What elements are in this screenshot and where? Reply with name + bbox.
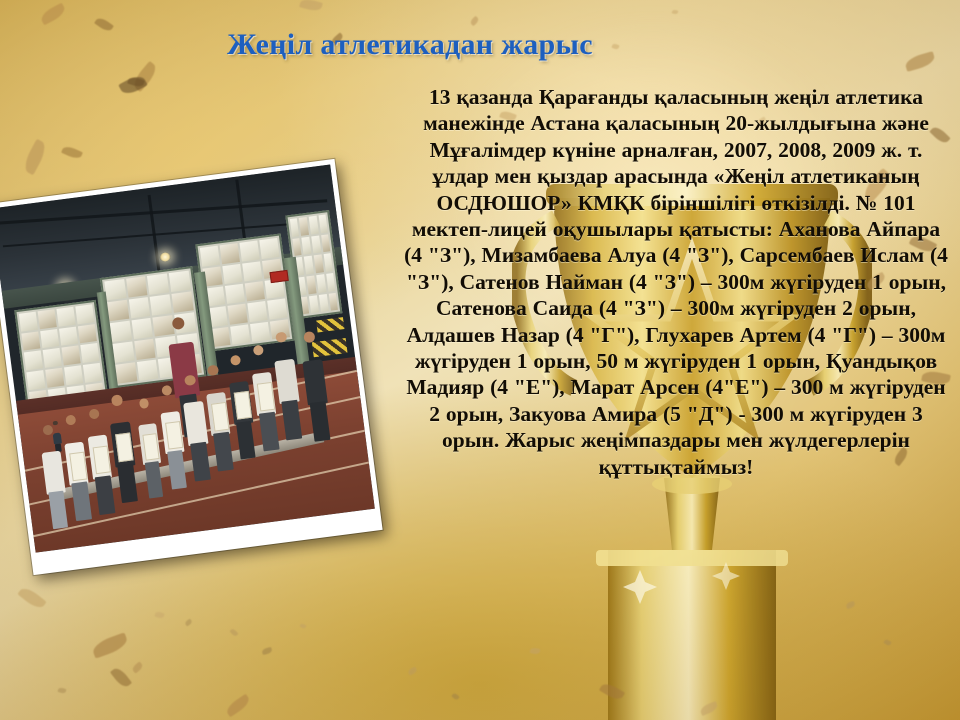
window-pane (83, 363, 102, 383)
window-pane (147, 274, 169, 295)
window-pane (304, 256, 314, 274)
window-pane (307, 275, 317, 293)
child-shirt (274, 359, 299, 404)
child-legs (236, 420, 256, 459)
child-legs (71, 482, 91, 522)
window-pane (314, 255, 324, 273)
window-pane (228, 304, 248, 324)
window-pane (110, 321, 132, 342)
child-legs (282, 400, 303, 441)
child-legs (117, 463, 138, 504)
window-pane (45, 368, 64, 388)
child-head (139, 398, 150, 409)
window-pane (245, 281, 265, 301)
child-head (42, 425, 53, 436)
window-pane (24, 351, 43, 371)
window-pane (259, 238, 279, 258)
event-photo (0, 159, 383, 575)
child-legs (95, 475, 115, 515)
window-pane (290, 218, 300, 236)
photo-image (0, 164, 375, 552)
window-pane (323, 253, 333, 271)
window-pane (169, 271, 191, 292)
slide-body-text: 13 қазанда Қарағанды қаласының жеңіл атл… (404, 84, 948, 480)
child-head (65, 414, 76, 425)
child-legs (259, 412, 279, 452)
window-pane (171, 292, 193, 313)
window-pane (78, 324, 97, 344)
child-head (111, 395, 123, 407)
window-pane (311, 235, 321, 253)
child-legs (167, 450, 187, 489)
child-legs (144, 461, 163, 499)
window-pane (220, 244, 240, 264)
window-pane (19, 312, 38, 332)
window-pane (59, 326, 78, 346)
window-pane (129, 297, 151, 318)
child-head (184, 375, 195, 386)
window-pane (43, 348, 62, 368)
window-pane (200, 246, 220, 266)
window-pane (309, 216, 319, 234)
window-pane (250, 322, 270, 342)
window-pane (62, 346, 81, 366)
child-head (161, 385, 172, 396)
window-pane (292, 238, 302, 256)
slide-root: Жеңіл атлетикадан жарыс 13 қазанда Қарағ… (0, 0, 960, 720)
window-pane (115, 363, 137, 384)
window-pane (38, 309, 57, 329)
window-pane (126, 276, 148, 297)
child-legs (48, 490, 68, 529)
window-pane (64, 365, 83, 385)
child-head (253, 345, 264, 356)
window-pane (134, 339, 156, 360)
child-legs (213, 432, 233, 472)
window-pane (319, 294, 329, 312)
window-pane (81, 343, 100, 363)
window-pane (57, 307, 76, 327)
window-pane (27, 370, 46, 390)
child-head (275, 331, 287, 343)
child-shirt (42, 451, 66, 495)
window-pane (309, 295, 319, 313)
window-pane (230, 324, 250, 344)
hurdle-equipment (316, 317, 345, 333)
window-pane (267, 299, 287, 319)
window-pane (316, 274, 326, 292)
coach-head (172, 317, 185, 330)
window-pane (302, 237, 312, 255)
window-pane (40, 329, 59, 349)
child-head (89, 408, 100, 419)
child-head (303, 331, 315, 343)
child-shirt (183, 401, 207, 446)
window-pane (105, 279, 127, 300)
child-legs (190, 442, 210, 482)
window-pane (76, 304, 95, 324)
window-pane (22, 331, 41, 351)
window-pane (240, 241, 260, 261)
child-head (230, 355, 241, 366)
window-pane (225, 284, 245, 304)
page-title: Жеңіл атлетикадан жарыс (150, 28, 670, 62)
child-head (207, 365, 218, 376)
window-pane (131, 318, 153, 339)
window-pane (299, 217, 309, 235)
child-legs (309, 401, 330, 442)
window-pane (150, 295, 172, 316)
window-pane (318, 215, 328, 233)
window-pane (326, 273, 336, 291)
window-pane (113, 342, 135, 363)
window-pane (247, 301, 267, 321)
window-pane (223, 264, 243, 284)
photo-frame (0, 159, 383, 575)
exit-sign (270, 270, 289, 283)
window-pane (137, 360, 159, 381)
window-pane (328, 292, 338, 310)
window-pane (107, 300, 129, 321)
window-pane (242, 261, 262, 281)
child-shirt (302, 359, 327, 405)
window-pane (321, 234, 331, 252)
